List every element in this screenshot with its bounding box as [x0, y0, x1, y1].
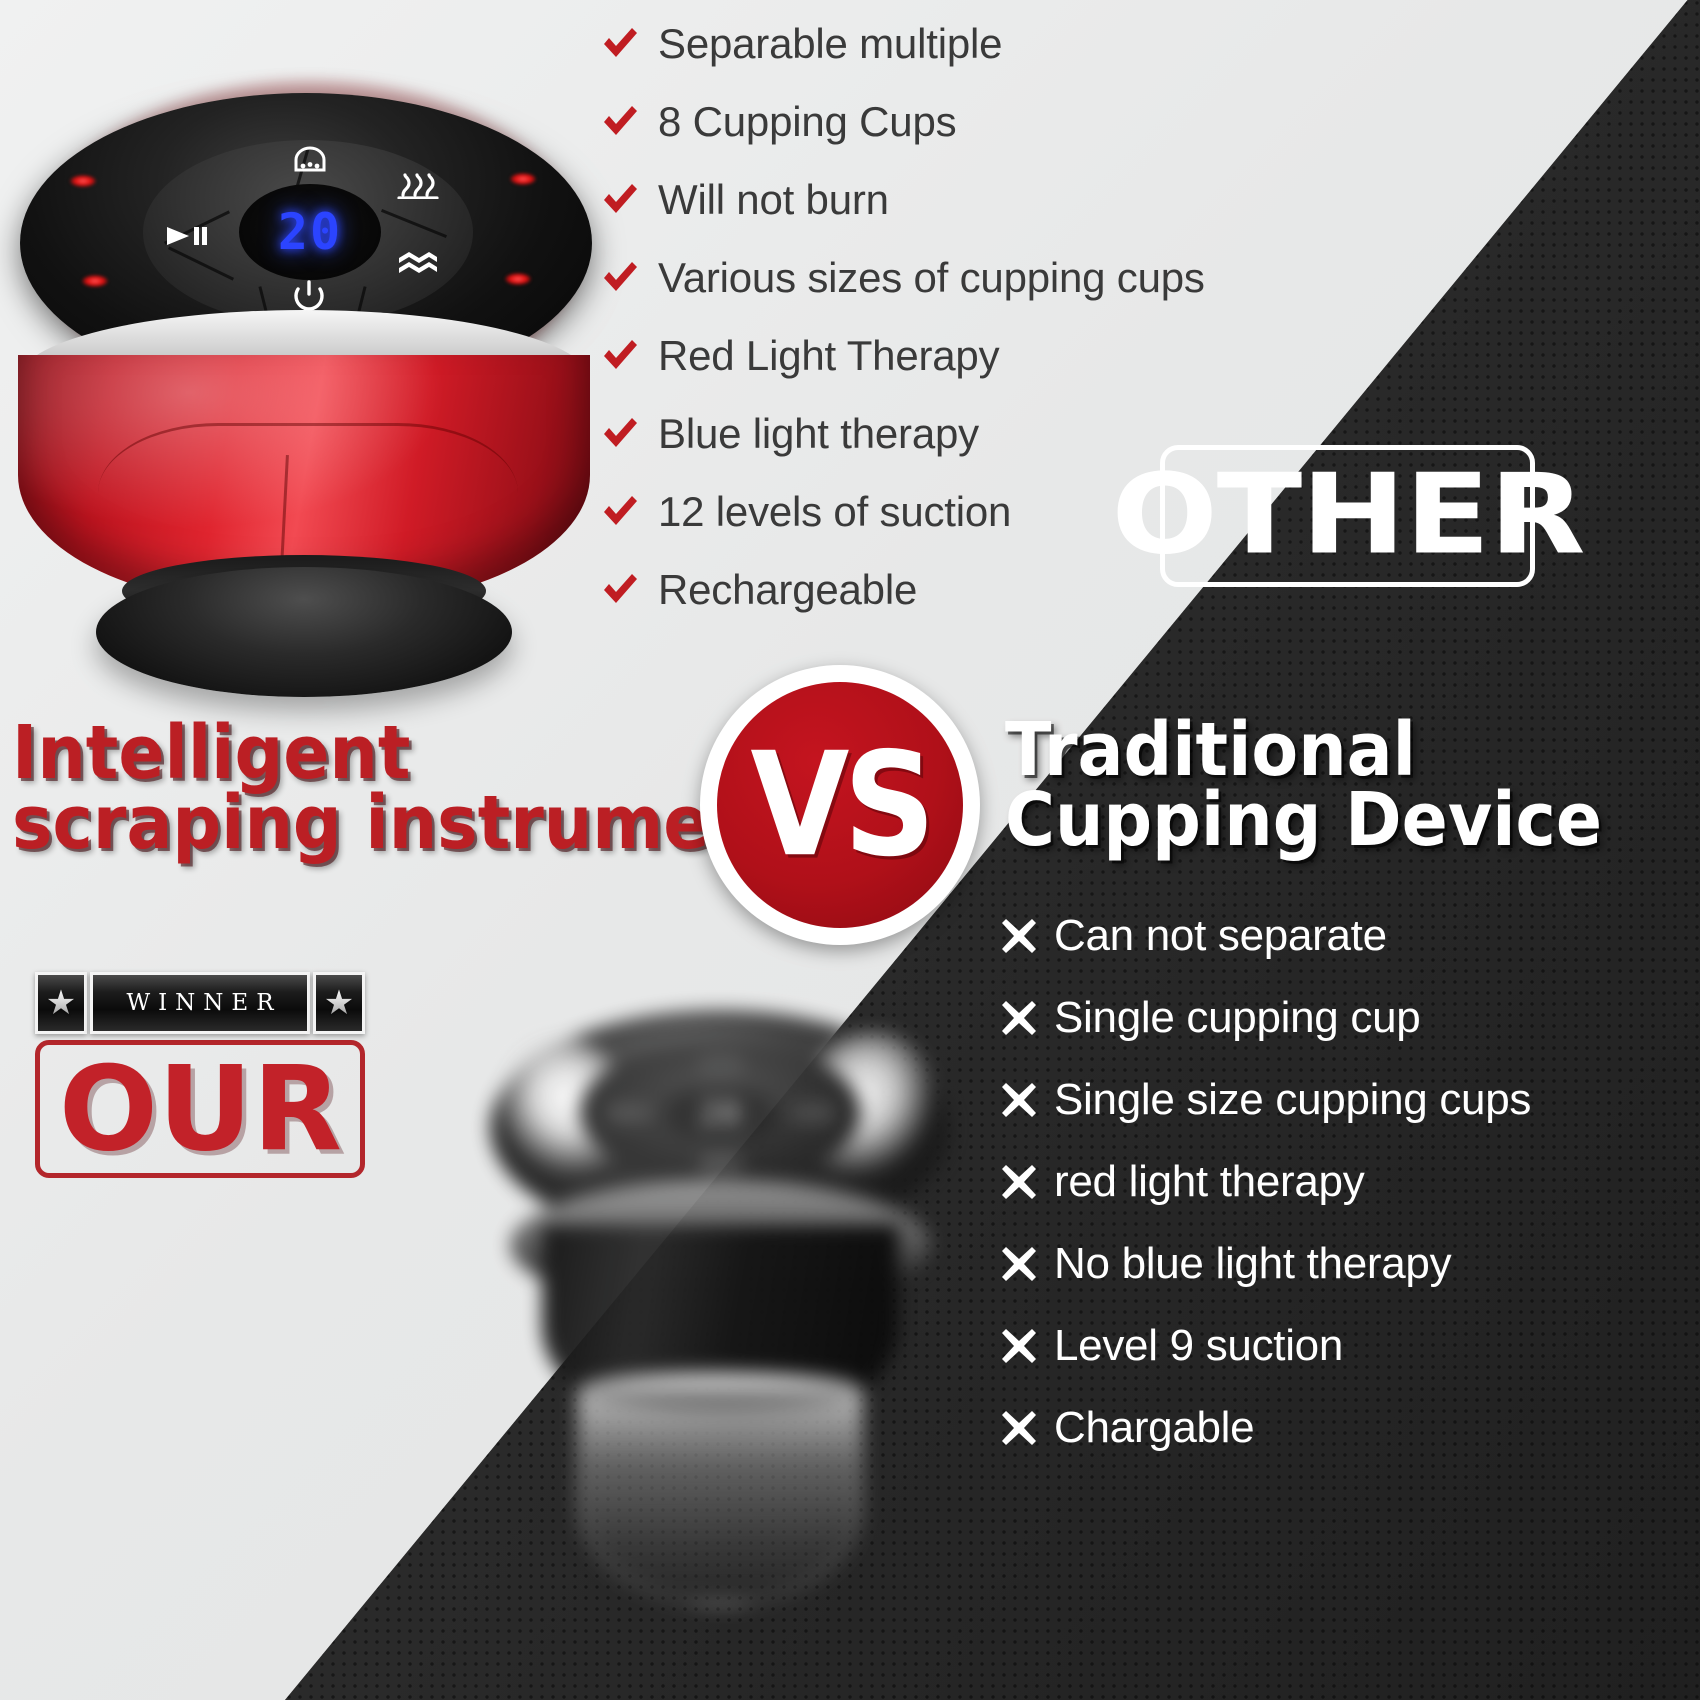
list-item: Single cupping cup [1000, 977, 1690, 1059]
winner-label: WINNER [118, 990, 281, 1016]
list-item: Level 9 suction [1000, 1305, 1690, 1387]
list-item: Chargable [1000, 1387, 1690, 1469]
winner-ribbon: ★ WINNER ★ [35, 972, 365, 1034]
other-device-display: 20 [665, 1088, 775, 1140]
cross-icon [1000, 1081, 1038, 1119]
panel-divider [168, 246, 234, 280]
panel-divider [381, 209, 447, 238]
cons-item-label: Chargable [1054, 1403, 1254, 1453]
led-light [510, 173, 536, 185]
list-item: Can not separate [1000, 895, 1690, 977]
device-suction-base [96, 567, 512, 697]
pros-item-label: Will not burn [658, 176, 889, 224]
our-badge-label: OUR [58, 1051, 341, 1167]
cross-icon [1000, 1245, 1038, 1283]
pros-item-label: Rechargeable [658, 566, 917, 614]
check-icon [600, 24, 640, 64]
led-light [70, 175, 96, 187]
other-product-image: 20 [460, 1000, 980, 1600]
other-title-line1: Traditional [1005, 715, 1640, 785]
other-device-glass-cup [578, 1390, 862, 1605]
cupping-icon[interactable] [293, 146, 327, 176]
control-panel[interactable]: 20 [143, 140, 473, 325]
cons-item-label: Level 9 suction [1054, 1321, 1343, 1371]
led-display: 20 [239, 184, 381, 280]
pros-item-label: Various sizes of cupping cups [658, 254, 1205, 302]
other-title-line2: Cupping Device [1005, 785, 1640, 855]
infographic-canvas: 20 [0, 0, 1700, 1700]
winner-star-left-box: ★ [35, 972, 87, 1034]
cross-icon [1000, 917, 1038, 955]
list-item: Various sizes of cupping cups [600, 239, 1290, 317]
star-icon: ★ [46, 986, 76, 1020]
cross-icon [1000, 1409, 1038, 1447]
our-title-line1: Intelligent [12, 718, 656, 788]
check-icon [600, 414, 640, 454]
star-icon: ★ [324, 986, 354, 1020]
cons-item-label: Single cupping cup [1054, 993, 1420, 1043]
cross-icon [1000, 999, 1038, 1037]
other-device-button [698, 1152, 744, 1174]
pros-item-label: Red Light Therapy [658, 332, 999, 380]
heat-waves-icon[interactable] [395, 173, 439, 199]
cons-item-label: red light therapy [1054, 1157, 1364, 1207]
pros-item-label: Blue light therapy [658, 410, 979, 458]
cross-icon [1000, 1327, 1038, 1365]
vs-badge-label: VS [750, 722, 929, 889]
check-icon [600, 258, 640, 298]
winner-label-box: WINNER [90, 972, 310, 1034]
other-product-title: Traditional Cupping Device [1005, 715, 1695, 856]
vs-badge: VS [700, 665, 980, 945]
our-title-line2: scraping instrument [12, 788, 656, 858]
check-icon [600, 492, 640, 532]
play-pause-icon[interactable] [165, 224, 209, 248]
check-icon [600, 102, 640, 142]
display-value: 20 [239, 184, 381, 280]
cons-feature-list: Can not separate Single cupping cup Sing… [1000, 895, 1690, 1469]
other-badge: OTHER [1160, 445, 1535, 587]
check-icon [600, 336, 640, 376]
list-item: Red Light Therapy [600, 317, 1290, 395]
pros-item-label: Separable multiple [658, 20, 1002, 68]
led-light [505, 273, 531, 285]
list-item: red light therapy [1000, 1141, 1690, 1223]
vibration-wave-icon[interactable] [397, 248, 439, 278]
cons-item-label: Single size cupping cups [1054, 1075, 1531, 1125]
other-device-button [790, 1102, 836, 1124]
other-badge-label: OTHER [1111, 461, 1584, 571]
cons-item-label: Can not separate [1054, 911, 1387, 961]
list-item: Single size cupping cups [1000, 1059, 1690, 1141]
our-product-title: Intelligent scraping instrument [12, 718, 712, 859]
list-item: Separable multiple [600, 5, 1290, 83]
winner-block: ★ WINNER ★ OUR [35, 972, 365, 1178]
pros-item-label: 8 Cupping Cups [658, 98, 956, 146]
power-icon[interactable] [291, 280, 327, 312]
winner-star-right-box: ★ [313, 972, 365, 1034]
check-icon [600, 570, 640, 610]
cross-icon [1000, 1163, 1038, 1201]
pros-item-label: 12 levels of suction [658, 488, 1011, 536]
list-item: No blue light therapy [1000, 1223, 1690, 1305]
vs-badge-circle: VS [717, 682, 963, 928]
other-device-button [606, 1102, 652, 1124]
our-badge: OUR [35, 1040, 365, 1178]
check-icon [600, 180, 640, 220]
led-light [82, 275, 108, 287]
list-item: 8 Cupping Cups [600, 83, 1290, 161]
cons-item-label: No blue light therapy [1054, 1239, 1451, 1289]
our-product-image: 20 [10, 55, 610, 655]
other-device-button [698, 1054, 744, 1076]
list-item: Will not burn [600, 161, 1290, 239]
